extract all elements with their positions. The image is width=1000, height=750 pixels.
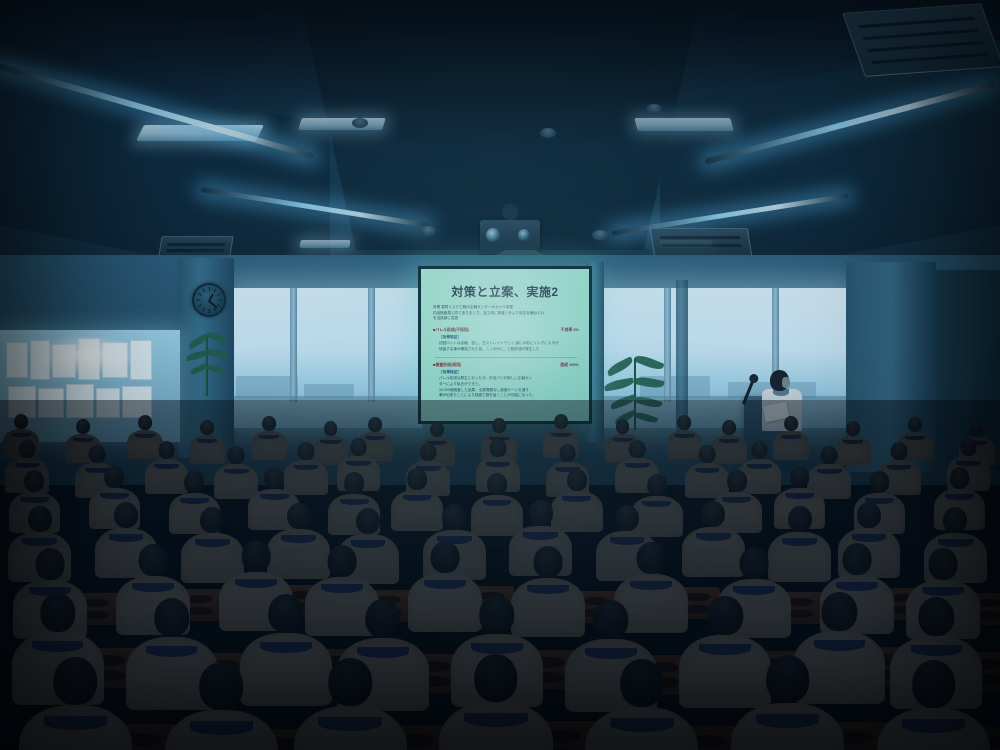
audience-member-head [822,592,857,631]
audience-member-head [40,593,75,632]
audience-member-head [242,540,271,572]
audience-member-head [76,419,90,434]
slide-section-subheading: ［効果検証］ [439,370,579,376]
slide-section-metric: 達成 100% [560,362,579,368]
slide-section-subheading: ［効果検証］ [439,335,579,341]
ceiling-air-vent [158,236,233,256]
audience-member-head [154,598,189,637]
ceiling-speaker-icon [540,128,556,138]
audience-member-head [722,420,736,435]
audience-member-head [616,419,630,434]
audience-member-head [350,438,367,456]
audience-member-head [857,502,881,528]
audience-member-head [919,597,954,636]
audience-member-head [268,594,303,633]
audience-member-head [430,422,444,437]
audience-member-head [200,420,214,435]
projected-slide: 対策と立案、実施2 対策 混同リスク工程の主軸センターのカメラ変更 内径検査員と… [421,269,589,421]
audience-member-head [25,470,45,492]
presenter-face [782,377,790,388]
ceiling-light-panel [299,240,350,248]
audience-member-head [420,443,437,461]
slide-lead-line: を当該部に変更 [433,316,579,322]
audience-member-head [365,599,400,638]
audience-member-head [554,414,568,429]
audience-member-head [943,507,967,533]
audience-member-head [287,503,311,529]
audience-member-head [328,658,372,706]
audience-member-head [929,548,958,580]
audience-member-head [328,545,357,577]
uniform-collar [464,713,527,727]
analog-wall-clock-icon [192,283,226,317]
audience-member-head [474,654,518,702]
audience-member-head [19,440,36,458]
audience-member-head [138,415,152,430]
slide-section: ■バレル形成(不採用) 不良率 0% ［効果検証］ 初回ロットは合格、但し、左ス… [433,327,579,353]
audience-member-head [790,466,810,488]
audience-member-head [678,415,692,430]
uniform-collar [44,716,107,730]
ceiling-light-panel [298,118,385,130]
audience-member-head [228,446,245,464]
audience-member-head [908,417,922,432]
audience-member-head [912,660,956,708]
ceiling-light-panel [634,118,733,131]
ceiling-speaker-icon [646,104,662,114]
audience-member-head [407,468,427,490]
audience-member-head [184,471,204,493]
audience-member [165,662,278,750]
audience-member-head [843,543,872,575]
projector-mount [502,204,518,220]
audience-member-head [870,471,890,493]
slide-section-heading: ■検査形成(採用) [433,362,461,368]
audience-member-head [846,421,860,436]
audience-member-head [324,421,338,436]
audience-member-head [368,417,382,432]
audience-member-head [479,595,514,634]
audience-member-head [647,474,667,496]
slide-title: 対策と立案、実施2 [421,283,589,300]
audience-member-head [200,507,224,533]
audience-member-head [529,500,553,526]
audience-member-head [727,470,747,492]
audience-member-head [891,442,908,460]
audience-member-head [356,508,380,534]
uniform-collar [318,717,381,731]
audience-member-head [264,467,284,489]
audience-member-head [699,445,716,463]
audience-member-head [593,600,628,639]
audience-member-head [487,473,507,495]
audience-member-head [490,439,507,457]
uniform-collar [756,714,819,728]
audience-member [294,658,407,750]
slide-section-line: 事が出来たことにより検査工程を省くことが可能になった。 [439,393,579,399]
audience-member-head [620,659,664,707]
audience-member-head [788,506,812,532]
audience-member-head [970,422,984,437]
audience-member [19,657,132,750]
audience-member-head [104,466,124,488]
audience-member-head [15,414,29,429]
audience-member-head [637,542,666,574]
audience-member-head [139,544,168,576]
audience-member-head [158,441,175,459]
audience-member-head [344,472,364,494]
slide-section: ■検査形成(採用) 達成 100% ［効果検証］ バレル形成は発生となったが、外… [433,362,579,399]
uniform-collar [902,719,965,733]
audience-member-head [89,445,106,463]
audience-member-head [708,596,743,635]
audience-member-head [262,416,276,431]
uniform-collar [610,718,673,732]
potted-plant-left [186,322,230,402]
ceiling-air-vent [650,228,752,256]
audience-member-head [615,505,639,531]
audience-member-head [442,504,466,530]
audience-member-head [629,440,646,458]
audience-member-head [784,416,798,431]
slide-section-metric: 不良率 0% [561,327,579,333]
audience-member [731,655,844,750]
audience-member [439,654,552,750]
notice-board-glare [30,334,140,376]
projector-lens-icon [486,228,500,242]
audience-member-head [567,469,587,491]
audience-member [877,660,990,750]
audience-member-head [960,438,977,456]
audience-member-head [114,502,138,528]
slide-section-line: 残留する事が確認された為、ニノ50%に、工程形成が発生した [439,347,579,353]
lecture-hall-photo: 対策と立案、実施2 対策 混同リスク工程の主軸センターのカメラ変更 内径検査員と… [0,0,1000,750]
audience-member-head [492,418,506,433]
audience-member-head [740,547,769,579]
projector-lens-icon [518,229,530,241]
slide-section-heading: ■バレル形成(不採用) [433,327,469,333]
ceiling-air-vent [842,3,1000,77]
audience-member-head [766,655,810,703]
audience [0,400,1000,750]
ceiling-speaker-icon [592,230,608,240]
audience-member-head [36,548,65,580]
uniform-collar [190,721,253,735]
ceiling-projector [480,220,540,254]
audience-member-head [200,662,244,710]
audience-member-head [821,446,838,464]
slide-body: 対策 混同リスク工程の主軸センターのカメラ変更 内径検査員と同でありました、加工… [433,305,579,399]
audience-member-head [298,442,315,460]
audience-member-head [431,541,460,573]
audience-member-head [701,501,725,527]
audience-member-head [54,657,98,705]
audience-member-head [559,444,576,462]
ceiling-speaker-icon [352,118,368,128]
audience-member-head [950,467,970,489]
audience-member [585,659,698,750]
audience-member-head [751,441,768,459]
slide-divider [435,357,577,358]
audience-member-head [28,506,52,532]
ceiling-speaker-icon [420,226,436,236]
audience-member-head [534,546,563,578]
